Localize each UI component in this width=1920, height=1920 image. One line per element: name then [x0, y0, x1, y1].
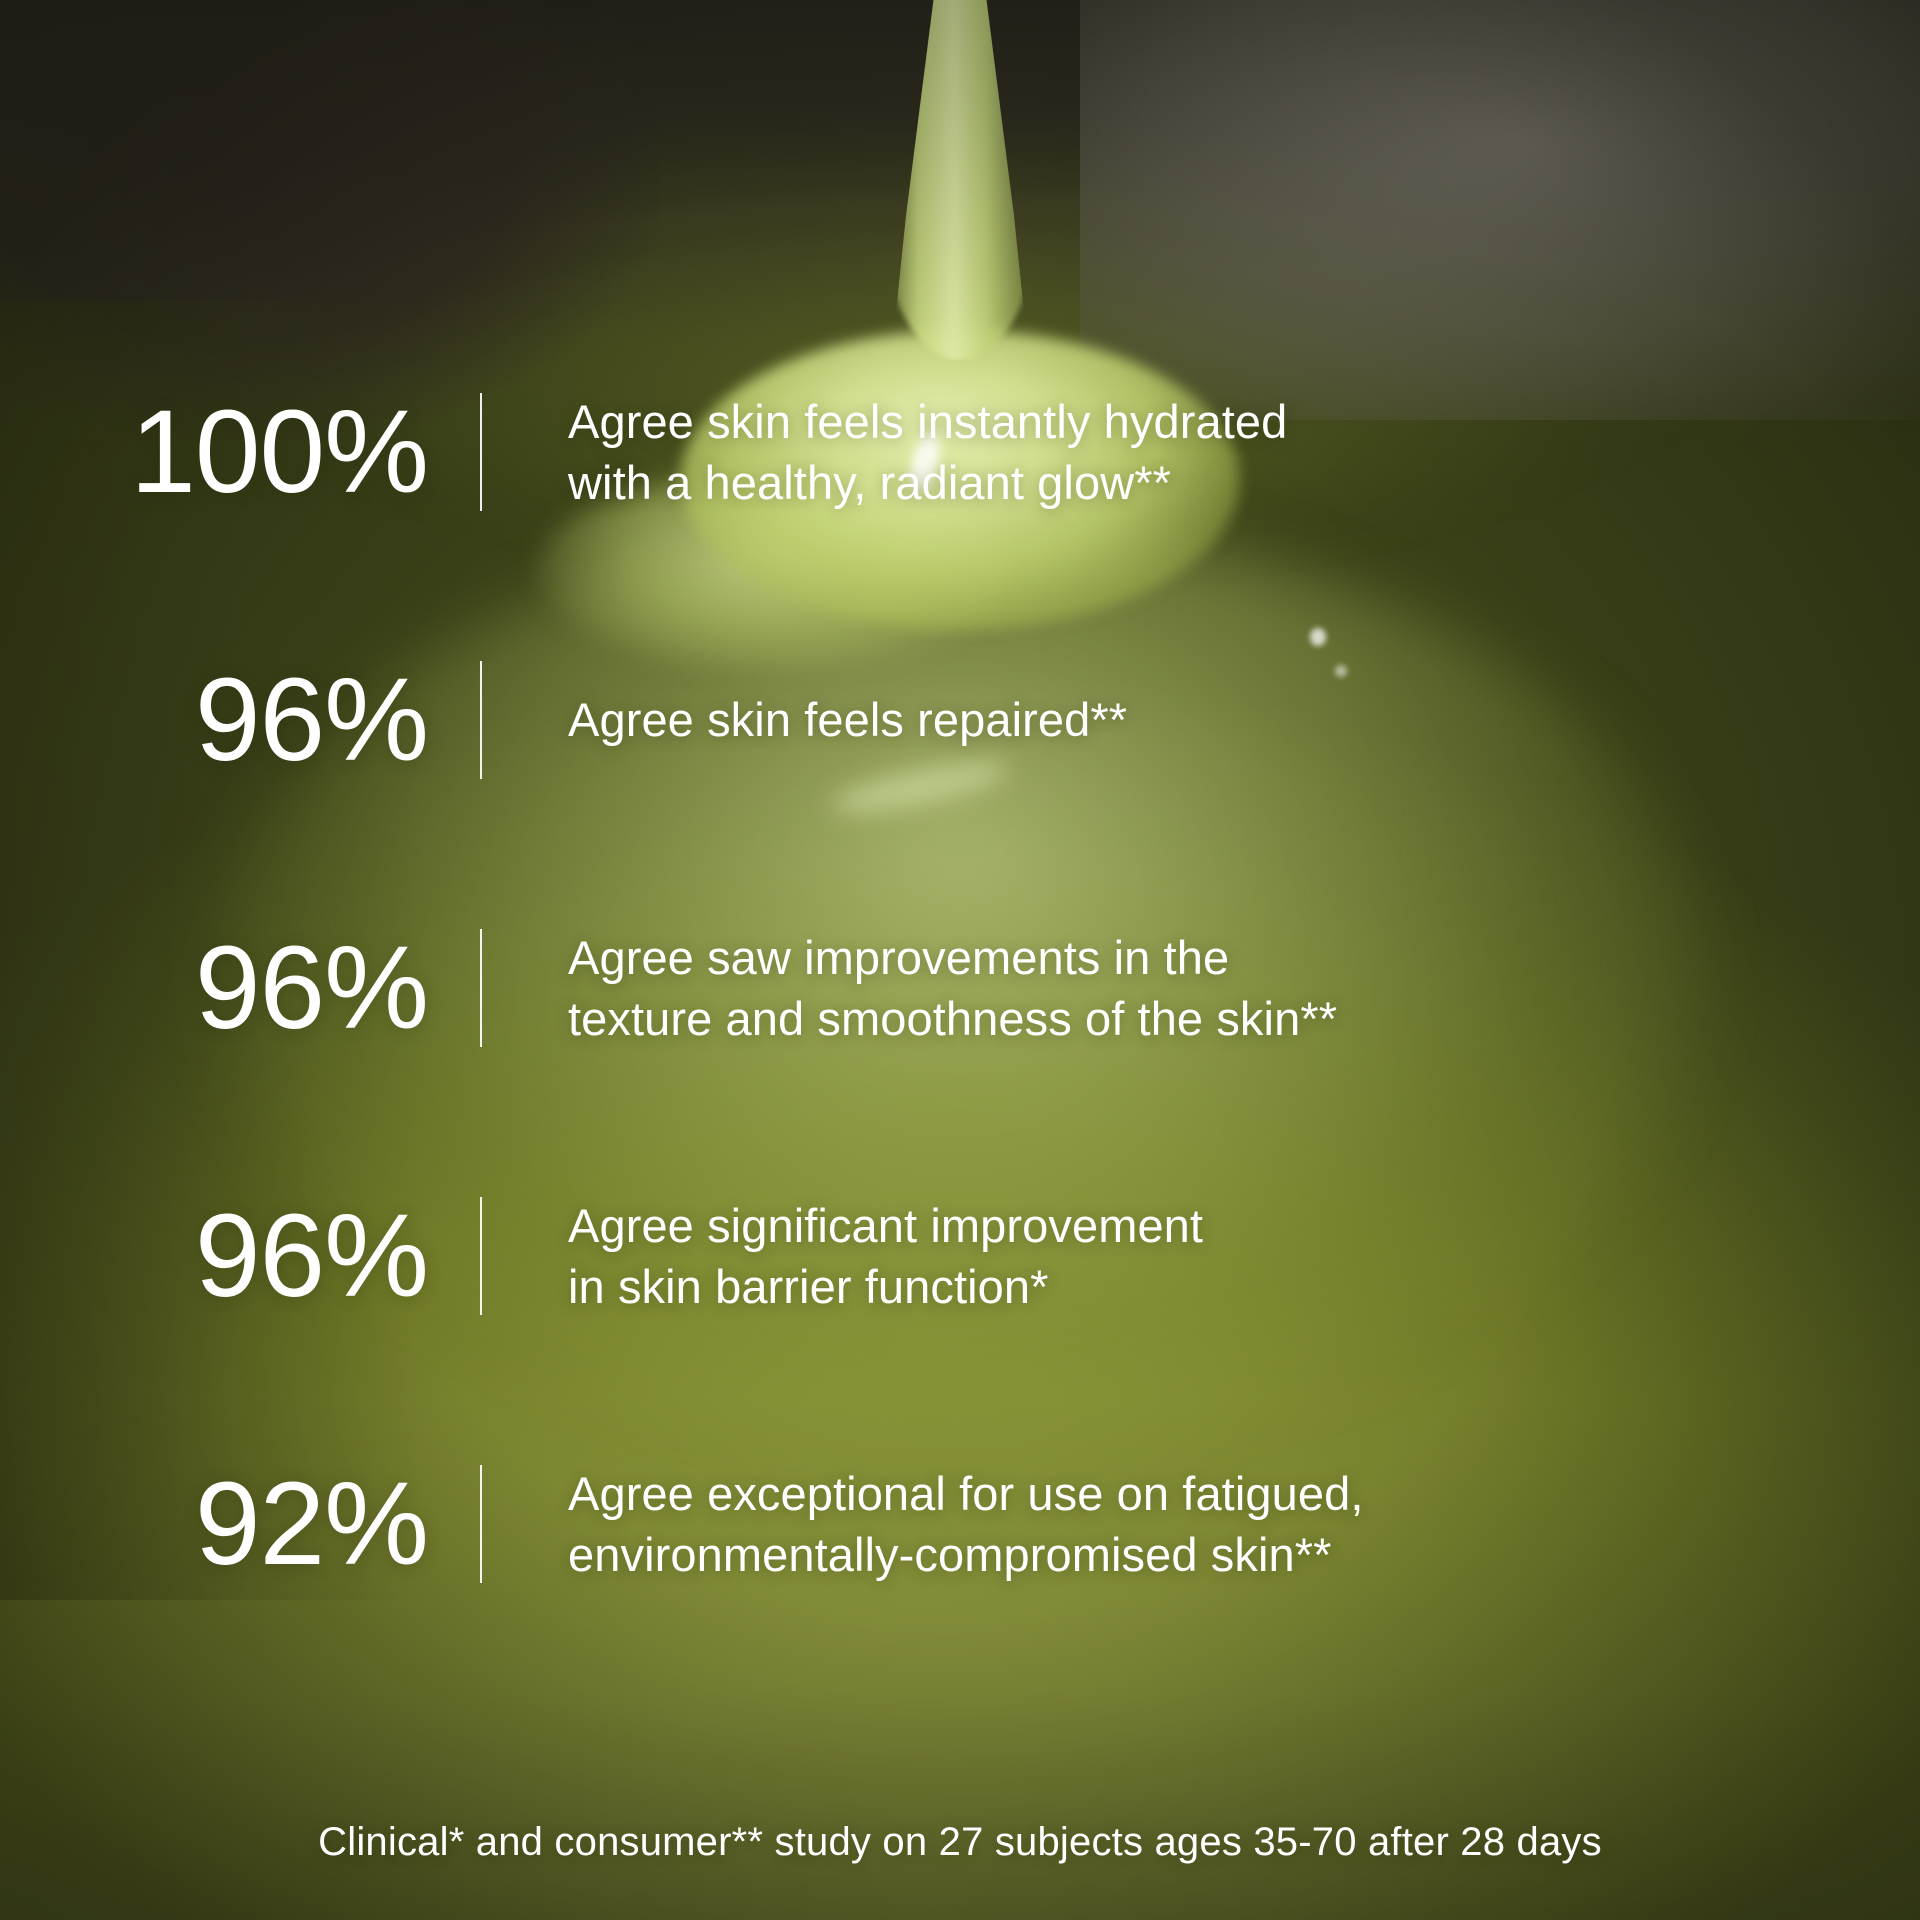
- claim-description: Agree skin feels instantly hydrated with…: [482, 391, 1920, 513]
- claim-percentage: 92%: [0, 1465, 480, 1583]
- claim-description: Agree skin feels repaired**: [482, 689, 1920, 750]
- claim-description: Agree exceptional for use on fatigued, e…: [482, 1463, 1920, 1585]
- claim-percentage: 96%: [0, 1197, 480, 1315]
- claim-description-line: Agree significant improvement: [568, 1195, 1920, 1256]
- claim-description: Agree significant improvement in skin ba…: [482, 1195, 1920, 1317]
- claim-description-line: Agree skin feels repaired**: [568, 689, 1920, 750]
- claim-description-line: Agree exceptional for use on fatigued,: [568, 1463, 1920, 1524]
- claim-description-line: texture and smoothness of the skin**: [568, 988, 1920, 1049]
- claim-description-line: environmentally-compromised skin**: [568, 1524, 1920, 1585]
- claim-row: 96% Agree skin feels repaired**: [0, 586, 1920, 854]
- claim-description-line: with a healthy, radiant glow**: [568, 452, 1920, 513]
- claim-row: 96% Agree significant improvement in ski…: [0, 1122, 1920, 1390]
- claim-row: 92% Agree exceptional for use on fatigue…: [0, 1390, 1920, 1658]
- claim-percentage: 96%: [0, 661, 480, 779]
- claim-percentage: 100%: [0, 393, 480, 511]
- promo-graphic: 100% Agree skin feels instantly hydrated…: [0, 0, 1920, 1920]
- claims-content: 100% Agree skin feels instantly hydrated…: [0, 0, 1920, 1920]
- claim-row: 100% Agree skin feels instantly hydrated…: [0, 318, 1920, 586]
- claim-description: Agree saw improvements in the texture an…: [482, 927, 1920, 1049]
- claim-row: 96% Agree saw improvements in the textur…: [0, 854, 1920, 1122]
- study-footnote: Clinical* and consumer** study on 27 sub…: [0, 1818, 1920, 1866]
- claims-list: 100% Agree skin feels instantly hydrated…: [0, 318, 1920, 1658]
- claim-description-line: Agree skin feels instantly hydrated: [568, 391, 1920, 452]
- claim-description-line: in skin barrier function*: [568, 1256, 1920, 1317]
- claim-percentage: 96%: [0, 929, 480, 1047]
- claim-description-line: Agree saw improvements in the: [568, 927, 1920, 988]
